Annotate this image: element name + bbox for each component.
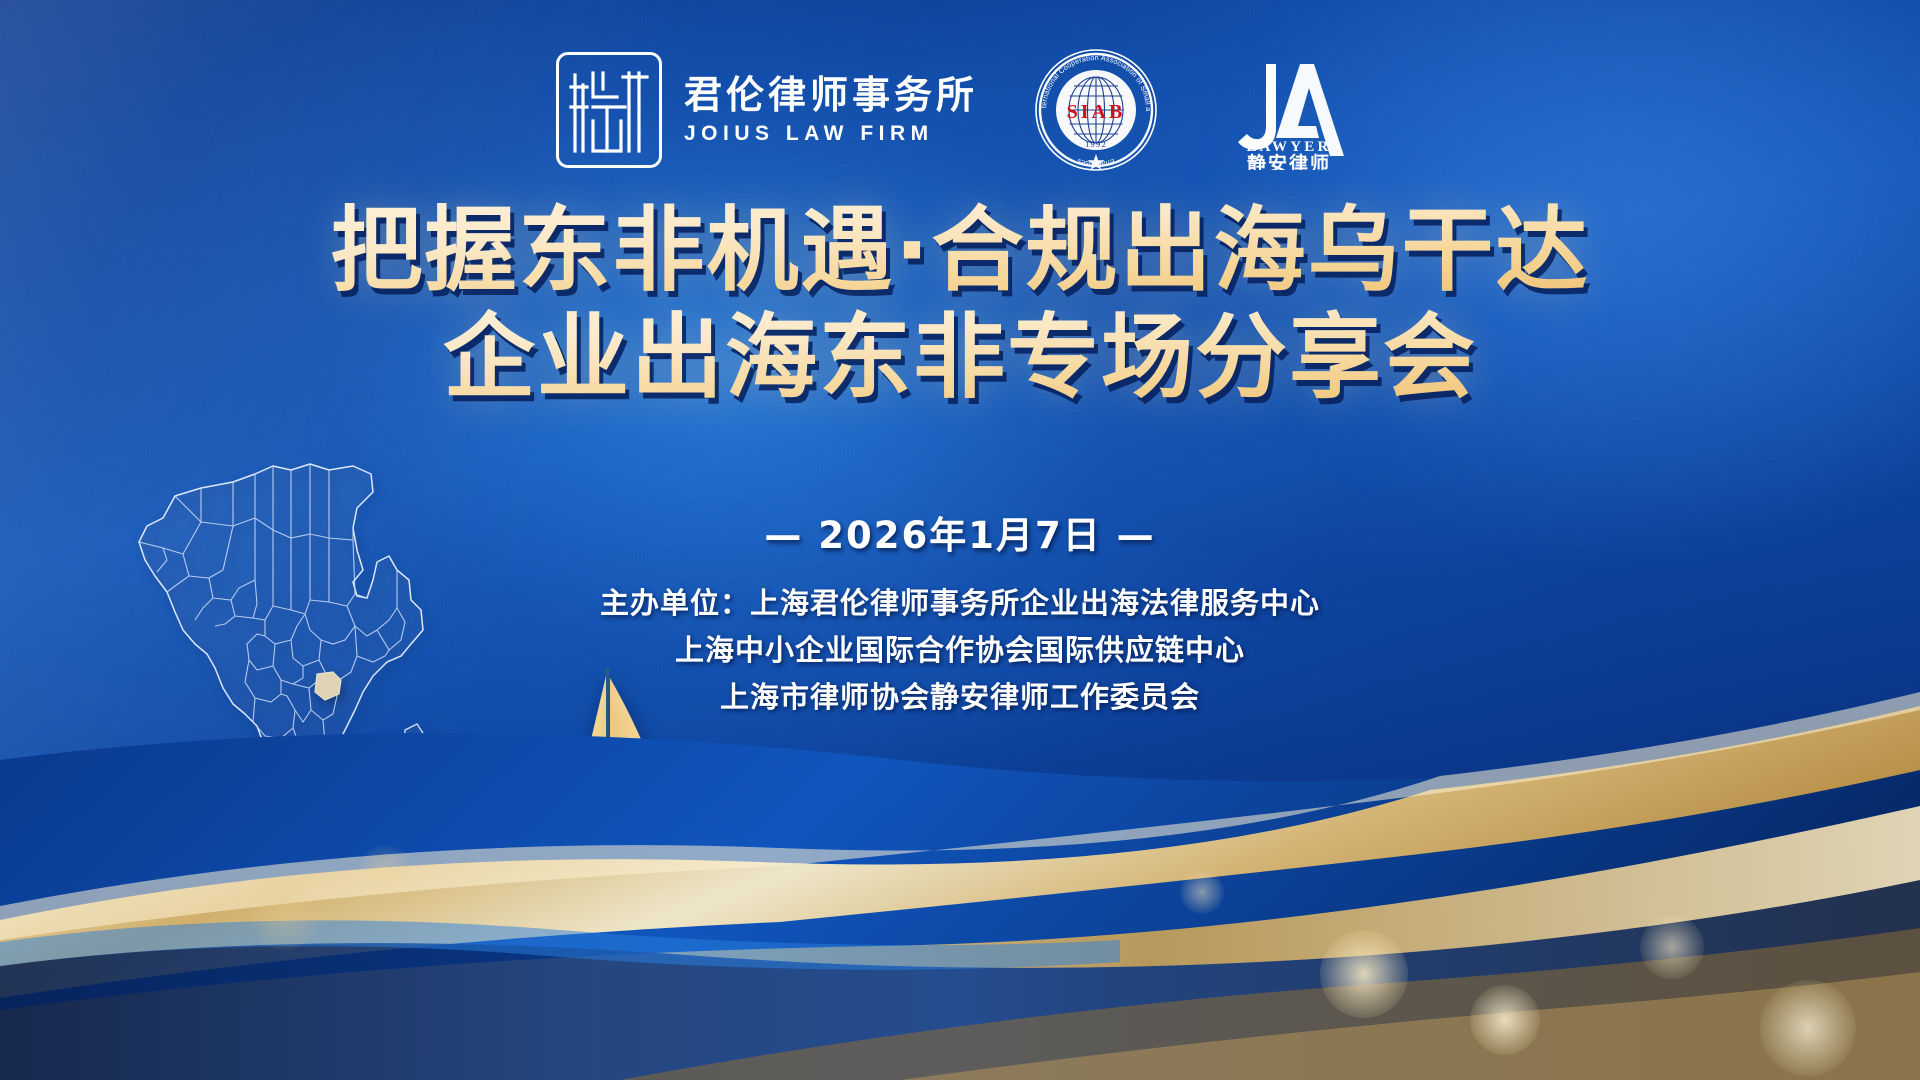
joius-wordmark: 君伦律师事务所 JOIUS LAW FIRM <box>684 74 978 146</box>
joius-seal-icon <box>556 52 662 168</box>
svg-text:SIAB: SIAB <box>1067 101 1126 123</box>
svg-text:1992: 1992 <box>1085 139 1107 149</box>
joius-name-en: JOIUS LAW FIRM <box>684 122 978 146</box>
svg-text:静安律师: 静安律师 <box>1247 152 1331 170</box>
organizer-line-2: 上海中小企业国际合作协会国际供应链中心 <box>0 627 1920 674</box>
headline-line-1: 把握东非机遇·合规出海乌干达 <box>0 198 1920 305</box>
organizer-line-3: 上海市律师协会静安律师工作委员会 <box>0 674 1920 721</box>
logo-siab: SIAB 1992 Shanghai International Coopera… <box>1034 48 1158 172</box>
logo-row: 君伦律师事务所 JOIUS LAW FIRM <box>0 48 1920 172</box>
logo-joius-law-firm: 君伦律师事务所 JOIUS LAW FIRM <box>556 52 978 168</box>
logo-ja-lawyer: LAWYER 静安律师 <box>1214 50 1364 170</box>
joius-name-cn: 君伦律师事务所 <box>684 74 978 118</box>
headline-block: 把握东非机遇·合规出海乌干达 企业出海东非专场分享会 <box>0 198 1920 411</box>
headline-line-2: 企业出海东非专场分享会 <box>0 305 1920 412</box>
event-poster: 君伦律师事务所 JOIUS LAW FIRM <box>0 0 1920 1080</box>
organizer-line-1: 主办单位：上海君伦律师事务所企业出海法律服务中心 <box>0 580 1920 627</box>
organizers-block: 主办单位：上海君伦律师事务所企业出海法律服务中心 上海中小企业国际合作协会国际供… <box>0 580 1920 721</box>
event-date: — 2026年1月7日 — <box>0 505 1920 559</box>
